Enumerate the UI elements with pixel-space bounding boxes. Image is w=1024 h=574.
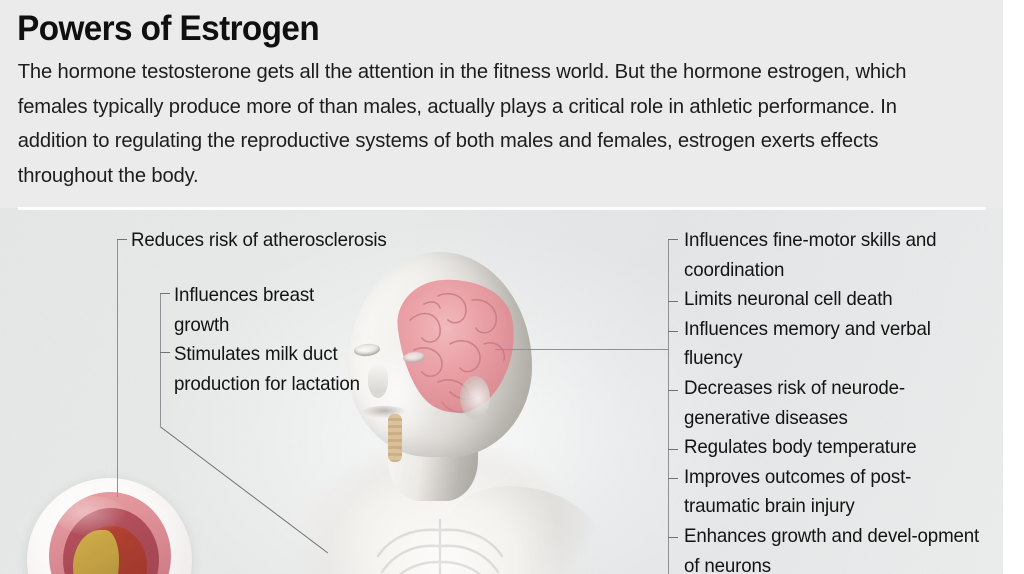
leader-line-brain-connector <box>495 349 669 350</box>
leader-line-brain <box>668 239 669 574</box>
header-block: Powers of Estrogen The hormone testoster… <box>0 0 1003 193</box>
list-item: Stimulates milk duct production for lact… <box>174 340 366 399</box>
ear-shape <box>460 376 490 420</box>
nose-shape <box>368 364 388 398</box>
list-item: Decreases risk of neurode-generative dis… <box>684 374 982 433</box>
leader-tick-memory <box>668 331 678 332</box>
page-title: Powers of Estrogen <box>0 0 953 49</box>
right-gutter <box>1003 0 1024 574</box>
callout-breast: Influences breast growth Stimulates milk… <box>174 281 366 399</box>
breast-list: Influences breast growth Stimulates milk… <box>174 281 366 399</box>
header-divider-rule <box>18 207 986 210</box>
leader-tick-milk-duct <box>160 352 170 353</box>
list-item: Influences breast growth <box>174 281 366 340</box>
leader-tick-breast-growth <box>160 293 170 294</box>
trachea-shape <box>388 414 402 462</box>
callout-brain: Influences fine-motor skills and coordin… <box>684 226 982 574</box>
brain-list: Influences fine-motor skills and coordin… <box>684 226 982 574</box>
leader-tick-fine-motor <box>668 239 678 240</box>
leader-tick-body-temperature <box>668 449 678 450</box>
leader-tick-brain-injury <box>668 478 678 479</box>
leader-line-breast <box>160 293 161 426</box>
callout-cardiovascular: Reduces risk of atherosclerosis <box>131 226 534 256</box>
leader-tick-atherosclerosis <box>117 239 127 240</box>
list-item: Enhances growth and devel-opment of neur… <box>684 522 982 574</box>
ribcage-overlay <box>340 516 540 574</box>
list-item: Influences fine-motor skills and coordin… <box>684 226 982 285</box>
intro-paragraph: The hormone testosterone gets all the at… <box>0 49 988 193</box>
list-item: Limits neuronal cell death <box>684 285 982 315</box>
list-item: Improves outcomes of post-traumatic brai… <box>684 463 982 522</box>
artery-cross-section <box>27 478 192 574</box>
list-item: Regulates body temperature <box>684 433 982 463</box>
infographic-canvas: Powers of Estrogen The hormone testoster… <box>0 0 1024 574</box>
leader-line-atherosclerosis <box>117 239 118 497</box>
cardiovascular-list: Reduces risk of atherosclerosis <box>131 226 534 256</box>
list-item: Reduces risk of atherosclerosis <box>131 226 534 256</box>
artery-highlight <box>57 496 127 536</box>
leader-tick-neuronal-death <box>668 301 678 302</box>
leader-tick-neuron-growth <box>668 537 678 538</box>
leader-tick-neurodegenerative <box>668 390 678 391</box>
list-item: Influences memory and verbal fluency <box>684 315 982 374</box>
